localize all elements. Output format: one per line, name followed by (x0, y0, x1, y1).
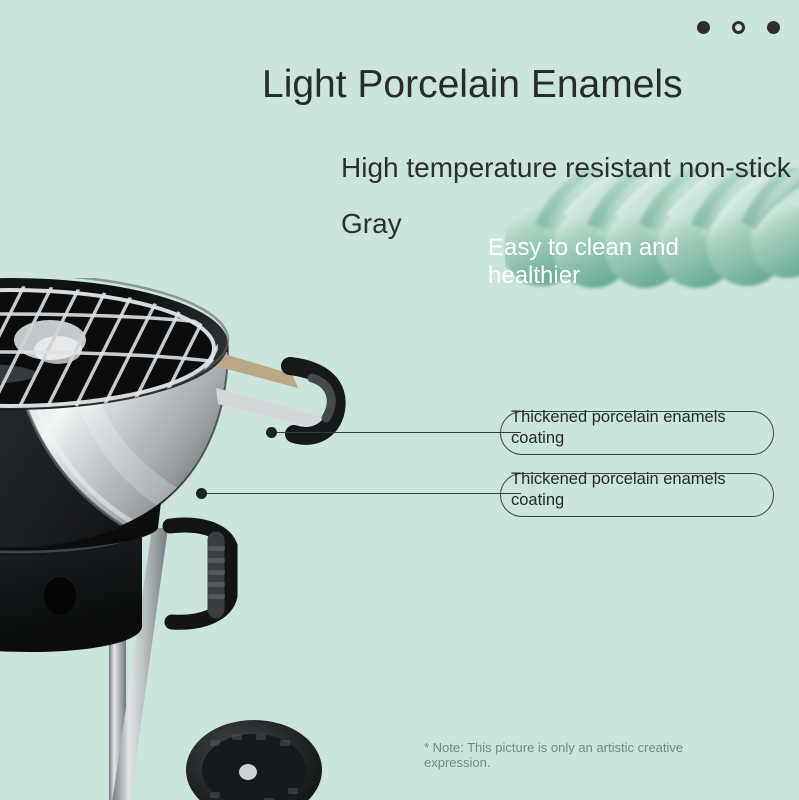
callout-anchor-dot-lower (196, 488, 207, 499)
carry-handle (170, 525, 230, 622)
callout-anchor-dot-upper (266, 427, 277, 438)
page-title: Light Porcelain Enamels (262, 62, 683, 108)
pagination-dot-1[interactable] (697, 21, 710, 34)
pagination-dot-3[interactable] (767, 21, 780, 34)
callout-upper-label: Thickened porcelain enamels coating (511, 407, 773, 449)
callout-leader-line-lower (201, 493, 521, 494)
disclaimer-note: * Note: This picture is only an artistic… (424, 740, 734, 770)
pagination-dots[interactable] (697, 21, 780, 34)
benefit-highlight-text: Easy to clean and healthier (488, 234, 703, 290)
front-wheel (186, 720, 322, 800)
callout-leader-line-upper (271, 432, 521, 433)
pagination-dot-2[interactable] (732, 21, 745, 34)
promo-poster: Light Porcelain Enamels High temperature… (0, 0, 799, 800)
charcoal-grill-illustration (0, 278, 412, 800)
callout-lower-label: Thickened porcelain enamels coating (511, 469, 773, 511)
side-rod-handle (204, 348, 337, 436)
